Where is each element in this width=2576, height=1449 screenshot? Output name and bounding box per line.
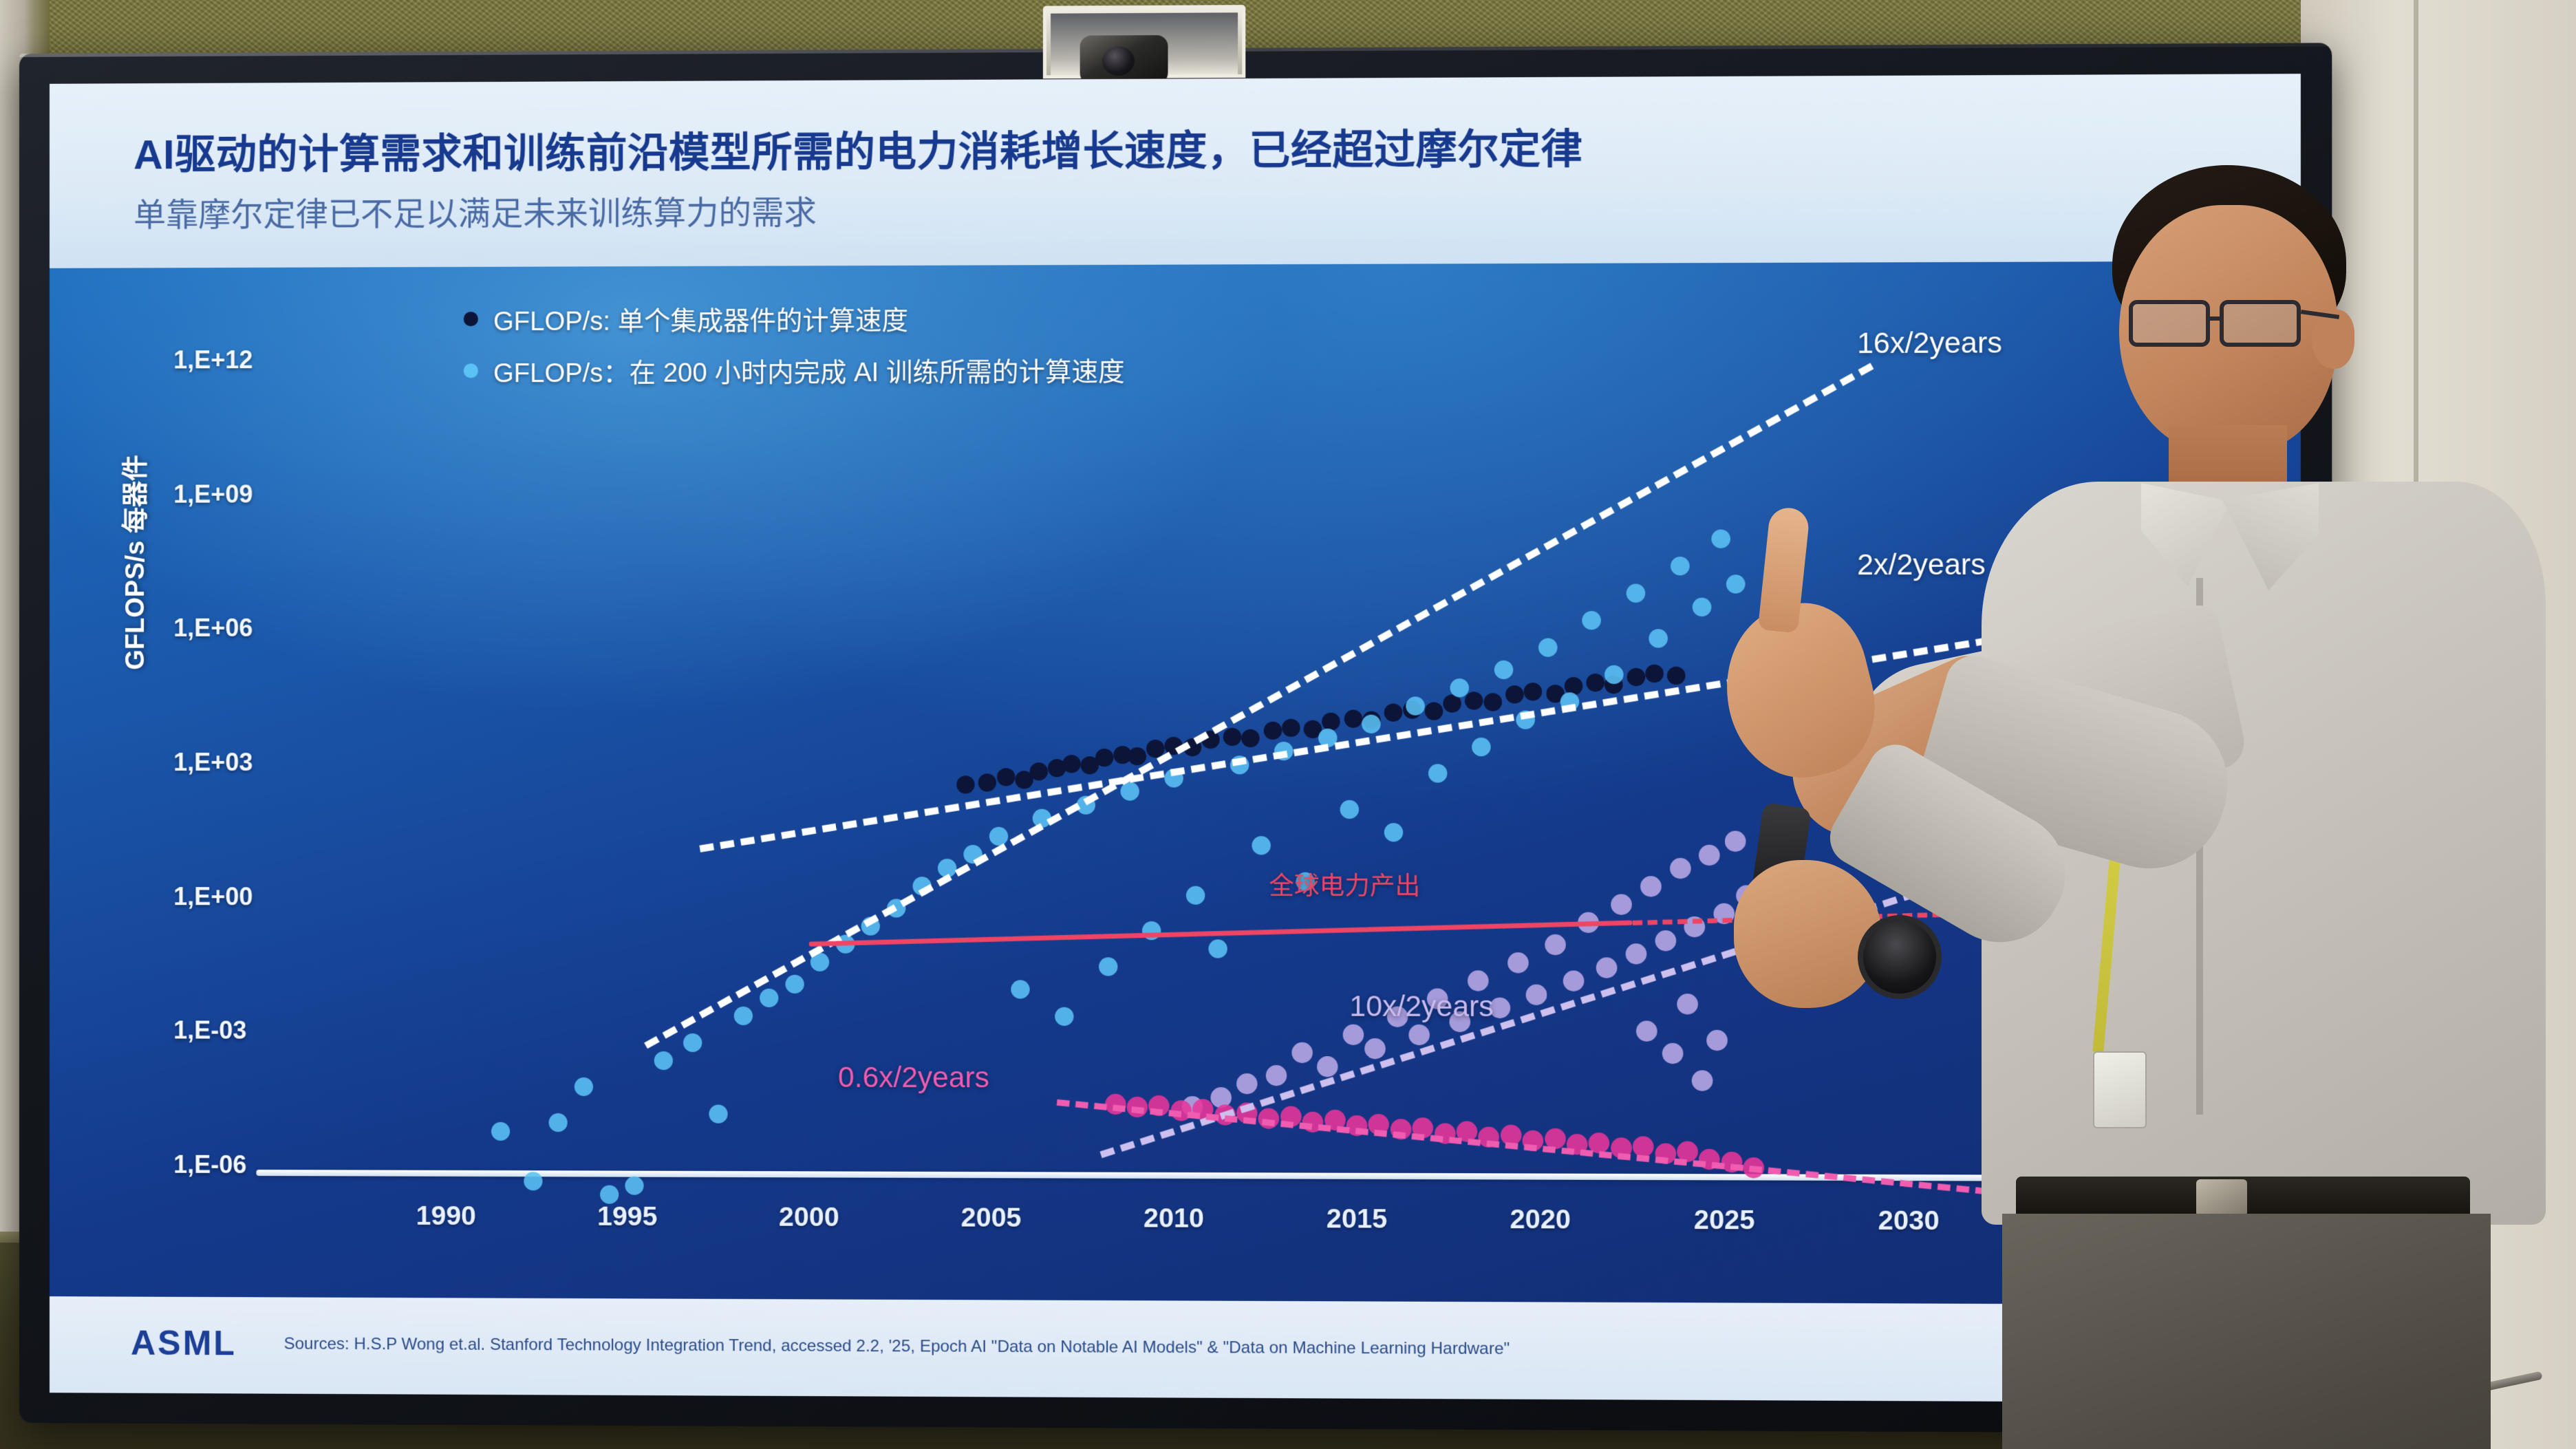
scatter-point <box>1465 691 1483 709</box>
scatter-point <box>683 1033 702 1052</box>
webcam-lens <box>1080 35 1168 85</box>
scatter-point <box>1011 980 1029 998</box>
scatter-point <box>1711 530 1730 548</box>
scatter-point <box>1128 747 1146 765</box>
scatter-point <box>654 1051 673 1070</box>
legend-item: GFLOP/s：在 200 小时内完成 AI 训练所需的计算速度 <box>464 350 1125 390</box>
scatter-point <box>524 1172 542 1190</box>
scatter-point <box>1425 702 1443 720</box>
legend-marker-device <box>464 312 478 326</box>
y-axis-tick-label: 1,E+12 <box>173 345 253 374</box>
scatter-point <box>978 773 996 791</box>
scatter-point <box>1649 629 1668 647</box>
scatter-point <box>1596 957 1618 978</box>
slide-title: AI驱动的计算需求和训练前沿模型所需的电力消耗增长速度，已经超过摩尔定律 <box>133 116 1582 180</box>
chart-legend-top: GFLOP/s: 单个集成器件的计算速度 GFLOP/s：在 200 小时内完成… <box>464 298 1125 403</box>
scatter-point <box>760 989 778 1007</box>
x-axis-tick-label: 1995 <box>597 1202 657 1232</box>
scatter-point <box>1582 611 1602 630</box>
x-axis-tick-label: 2015 <box>1327 1204 1387 1235</box>
scatter-point <box>1468 971 1489 991</box>
y-axis-tick-label: 1,E-06 <box>173 1150 246 1179</box>
scatter-point <box>1693 597 1712 616</box>
y-axis-tick-label: 1,E+09 <box>173 480 253 508</box>
scatter-point <box>1627 667 1645 685</box>
y-axis-tick-label: 1,E+00 <box>173 882 253 911</box>
y-axis-tick-label: 1,E-03 <box>173 1016 246 1045</box>
scatter-point <box>1236 1074 1257 1095</box>
x-axis-tick-label: 2020 <box>1510 1205 1571 1236</box>
x-axis-tick-label: 2005 <box>961 1203 1022 1234</box>
scatter-point <box>1263 722 1281 740</box>
scatter-point <box>1483 694 1502 711</box>
scatter-point <box>1667 666 1686 684</box>
scatter-point <box>1505 686 1524 704</box>
x-axis-tick-label: 2000 <box>779 1202 839 1233</box>
scatter-point <box>1282 719 1300 737</box>
scatter-point <box>1640 876 1662 897</box>
scatter-point <box>734 1007 753 1025</box>
scatter-point <box>785 975 804 994</box>
scatter-point <box>1384 704 1402 722</box>
scatter-point <box>1342 1024 1364 1045</box>
legend-label-ai-training: GFLOP/s：在 200 小时内完成 AI 训练所需的计算速度 <box>493 350 1124 390</box>
belt-buckle <box>2196 1179 2247 1216</box>
scatter-point <box>1563 971 1585 991</box>
scatter-point <box>1699 844 1720 865</box>
scatter-point <box>997 768 1015 786</box>
scatter-point <box>600 1185 619 1204</box>
scatter-point <box>1692 1070 1713 1091</box>
scatter-point <box>1526 984 1547 1005</box>
scatter-point <box>1706 1029 1728 1050</box>
scatter-point <box>1633 1136 1654 1157</box>
scatter-point <box>1406 697 1426 716</box>
source-citation: Sources: H.S.P Wong et.al. Stanford Tech… <box>284 1335 1510 1360</box>
scatter-point <box>1241 729 1259 747</box>
scatter-point <box>1384 823 1404 841</box>
scatter-point <box>1726 575 1745 593</box>
scatter-point <box>956 776 974 794</box>
scatter-point <box>1344 709 1362 727</box>
legend-item: GFLOP/s: 单个集成器件的计算速度 <box>464 298 1125 338</box>
scatter-point <box>1472 738 1492 756</box>
scatter-point <box>1625 944 1646 965</box>
scatter-point <box>1029 762 1047 780</box>
scatter-point <box>1095 749 1113 766</box>
eyeglasses-right-lens <box>2220 300 2301 347</box>
scatter-point <box>1538 638 1558 656</box>
y-axis-tick-label: 1,E+06 <box>173 614 253 643</box>
scatter-point <box>1062 755 1080 773</box>
presenter-ear <box>2312 310 2354 369</box>
scatter-point <box>1099 958 1117 976</box>
scatter-point <box>1443 695 1461 713</box>
scatter-point <box>625 1177 644 1195</box>
scatter-point <box>1055 1007 1073 1025</box>
presenter-trousers <box>2002 1214 2491 1449</box>
scatter-point <box>709 1105 727 1124</box>
x-axis-tick-label: 2010 <box>1144 1203 1204 1234</box>
presenter-shirt <box>1982 482 2546 1225</box>
x-axis-tick-label: 2025 <box>1694 1205 1755 1236</box>
scatter-point <box>1611 894 1632 914</box>
scatter-point <box>1223 728 1241 746</box>
id-badge <box>2093 1051 2147 1128</box>
scatter-point <box>1545 934 1566 955</box>
scatter-point <box>1655 930 1676 951</box>
scatter-point <box>1317 1056 1338 1077</box>
scatter-point <box>549 1113 568 1132</box>
scatter-point <box>1670 858 1691 879</box>
trend-line-10x <box>1099 851 2039 1158</box>
presenter-left-hand <box>1734 860 1882 1008</box>
slide-subtitle: 单靠摩尔定律已不足以满足未来训练算力的需求 <box>133 186 817 236</box>
scatter-point <box>1252 836 1271 855</box>
chart-annotation: 全球电力产出 <box>1269 866 1420 902</box>
scatter-point <box>1208 940 1227 958</box>
scatter-point <box>1362 715 1381 733</box>
y-axis-tick-label: 1,E+03 <box>173 748 253 777</box>
legend-label-device: GFLOP/s: 单个集成器件的计算速度 <box>493 299 908 338</box>
scatter-point <box>1524 683 1543 700</box>
y-axis-title: GFLOPS/s 每器件 <box>114 404 151 720</box>
scatter-point <box>1291 1042 1313 1063</box>
scatter-point <box>1186 885 1205 904</box>
legend-marker-ai-training <box>464 363 478 378</box>
scatter-point <box>1340 800 1359 819</box>
scatter-point <box>1725 831 1746 852</box>
scatter-point <box>1428 764 1448 783</box>
scatter-point <box>1645 665 1664 683</box>
chart-annotation: 0.6x/2years <box>838 1061 989 1095</box>
chart-annotation: 10x/2years <box>1349 990 1493 1024</box>
eyeglasses-left-lens <box>2129 300 2210 347</box>
scatter-point <box>491 1122 510 1141</box>
scatter-point <box>1507 952 1529 973</box>
scatter-point <box>575 1077 593 1096</box>
scatter-point <box>1408 1024 1430 1045</box>
scatter-point <box>1494 661 1514 679</box>
presenter: ASML <box>1899 165 2553 1449</box>
scatter-point <box>1636 1020 1657 1041</box>
asml-logo: ASML <box>131 1323 237 1364</box>
eyeglasses-bridge <box>2210 316 2222 321</box>
scatter-point <box>1364 1038 1386 1059</box>
x-axis-tick-label: 1990 <box>416 1201 476 1232</box>
scatter-point <box>1662 1043 1684 1064</box>
scatter-point <box>1604 665 1624 684</box>
scatter-point <box>1671 557 1690 575</box>
scatter-point <box>1587 674 1605 691</box>
scatter-point <box>1266 1065 1287 1086</box>
webcam-icon <box>1043 5 1245 78</box>
scatter-point <box>1677 994 1698 1014</box>
scatter-point <box>1627 584 1646 603</box>
